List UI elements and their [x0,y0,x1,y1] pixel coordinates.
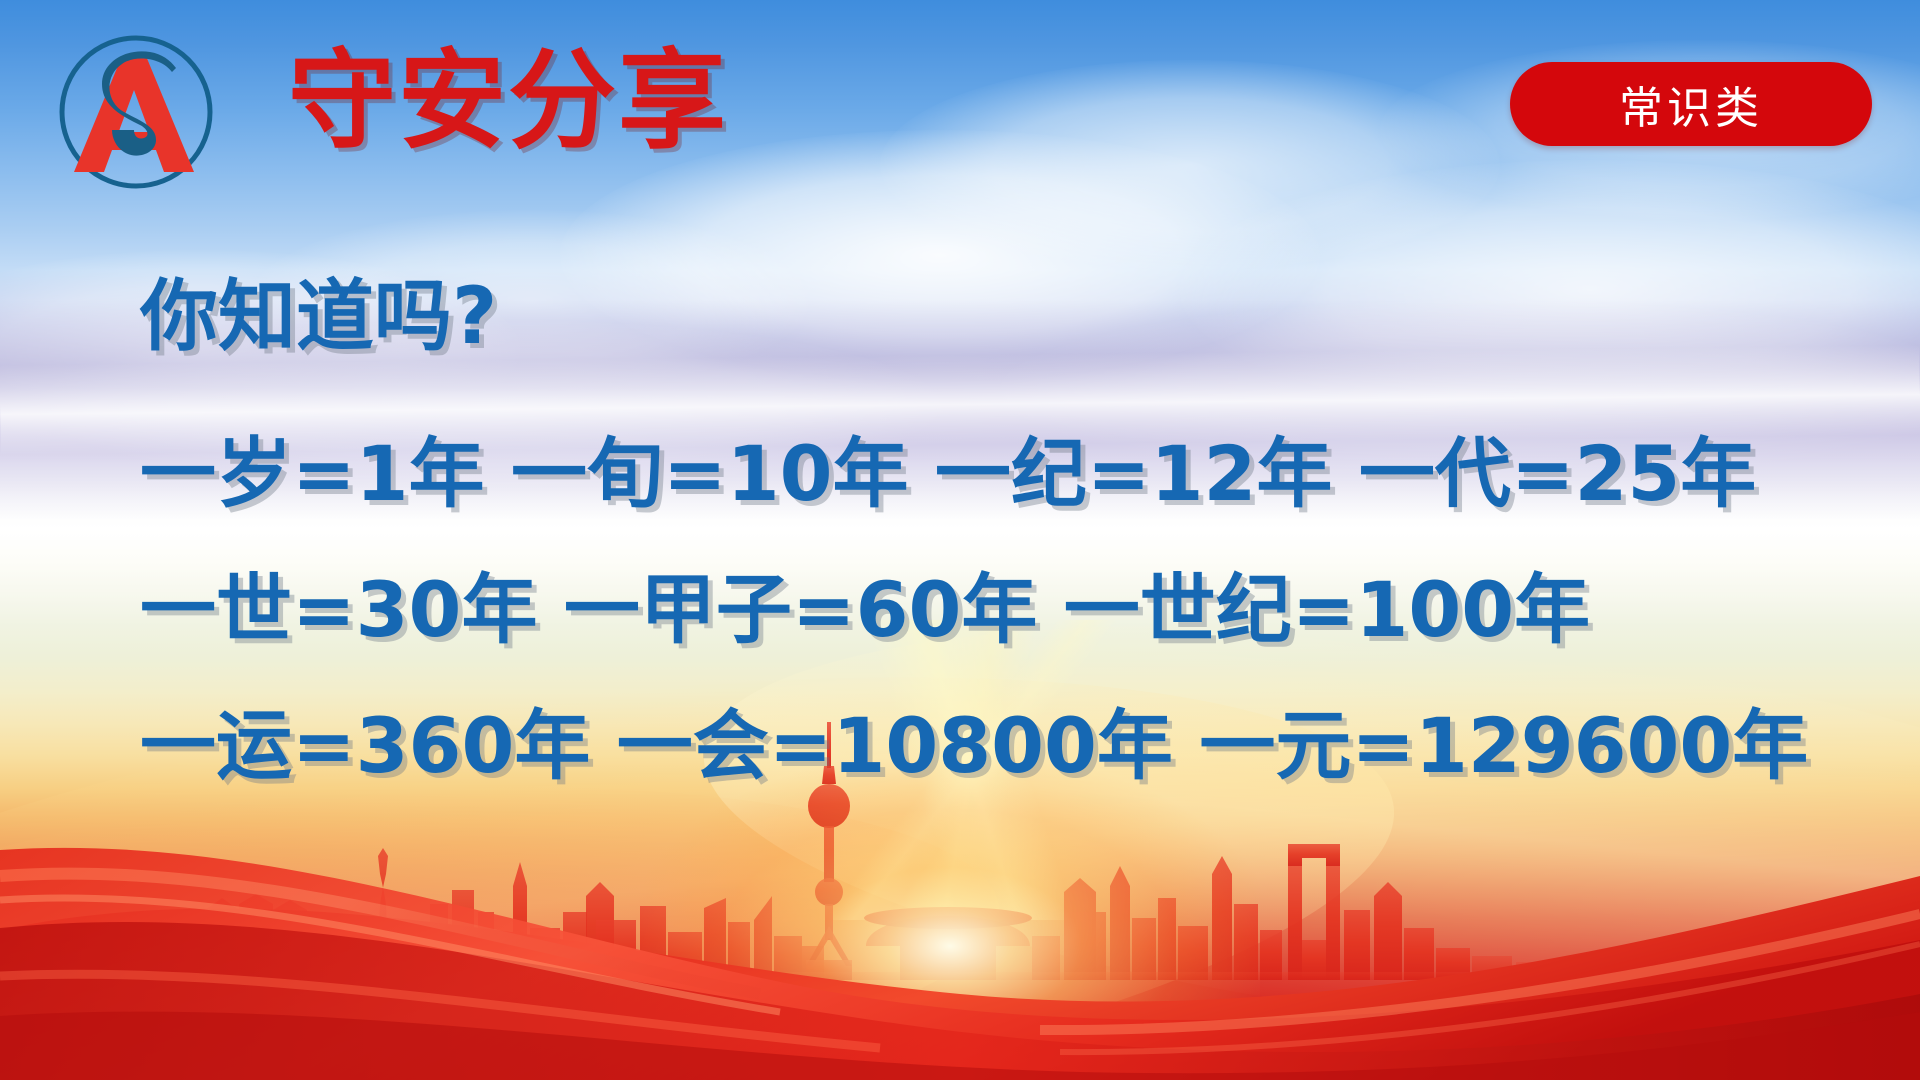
fact-line: 一运=360年 一会=10800年 一元=129600年 [140,708,1808,784]
fact-line: 一岁=1年 一旬=10年 一纪=12年 一代=25年 [140,436,1756,512]
headline-question: 你知道吗? [140,278,497,356]
fact-line: 一世=30年 一甲子=60年 一世纪=100年 [140,572,1590,648]
poster-canvas: 守安分享 常识类 你知道吗? 一岁=1年 一旬=10年 一纪=12年 一代=25… [0,0,1920,1080]
main-content: 你知道吗? 一岁=1年 一旬=10年 一纪=12年 一代=25年 一世=30年 … [0,0,1920,1080]
